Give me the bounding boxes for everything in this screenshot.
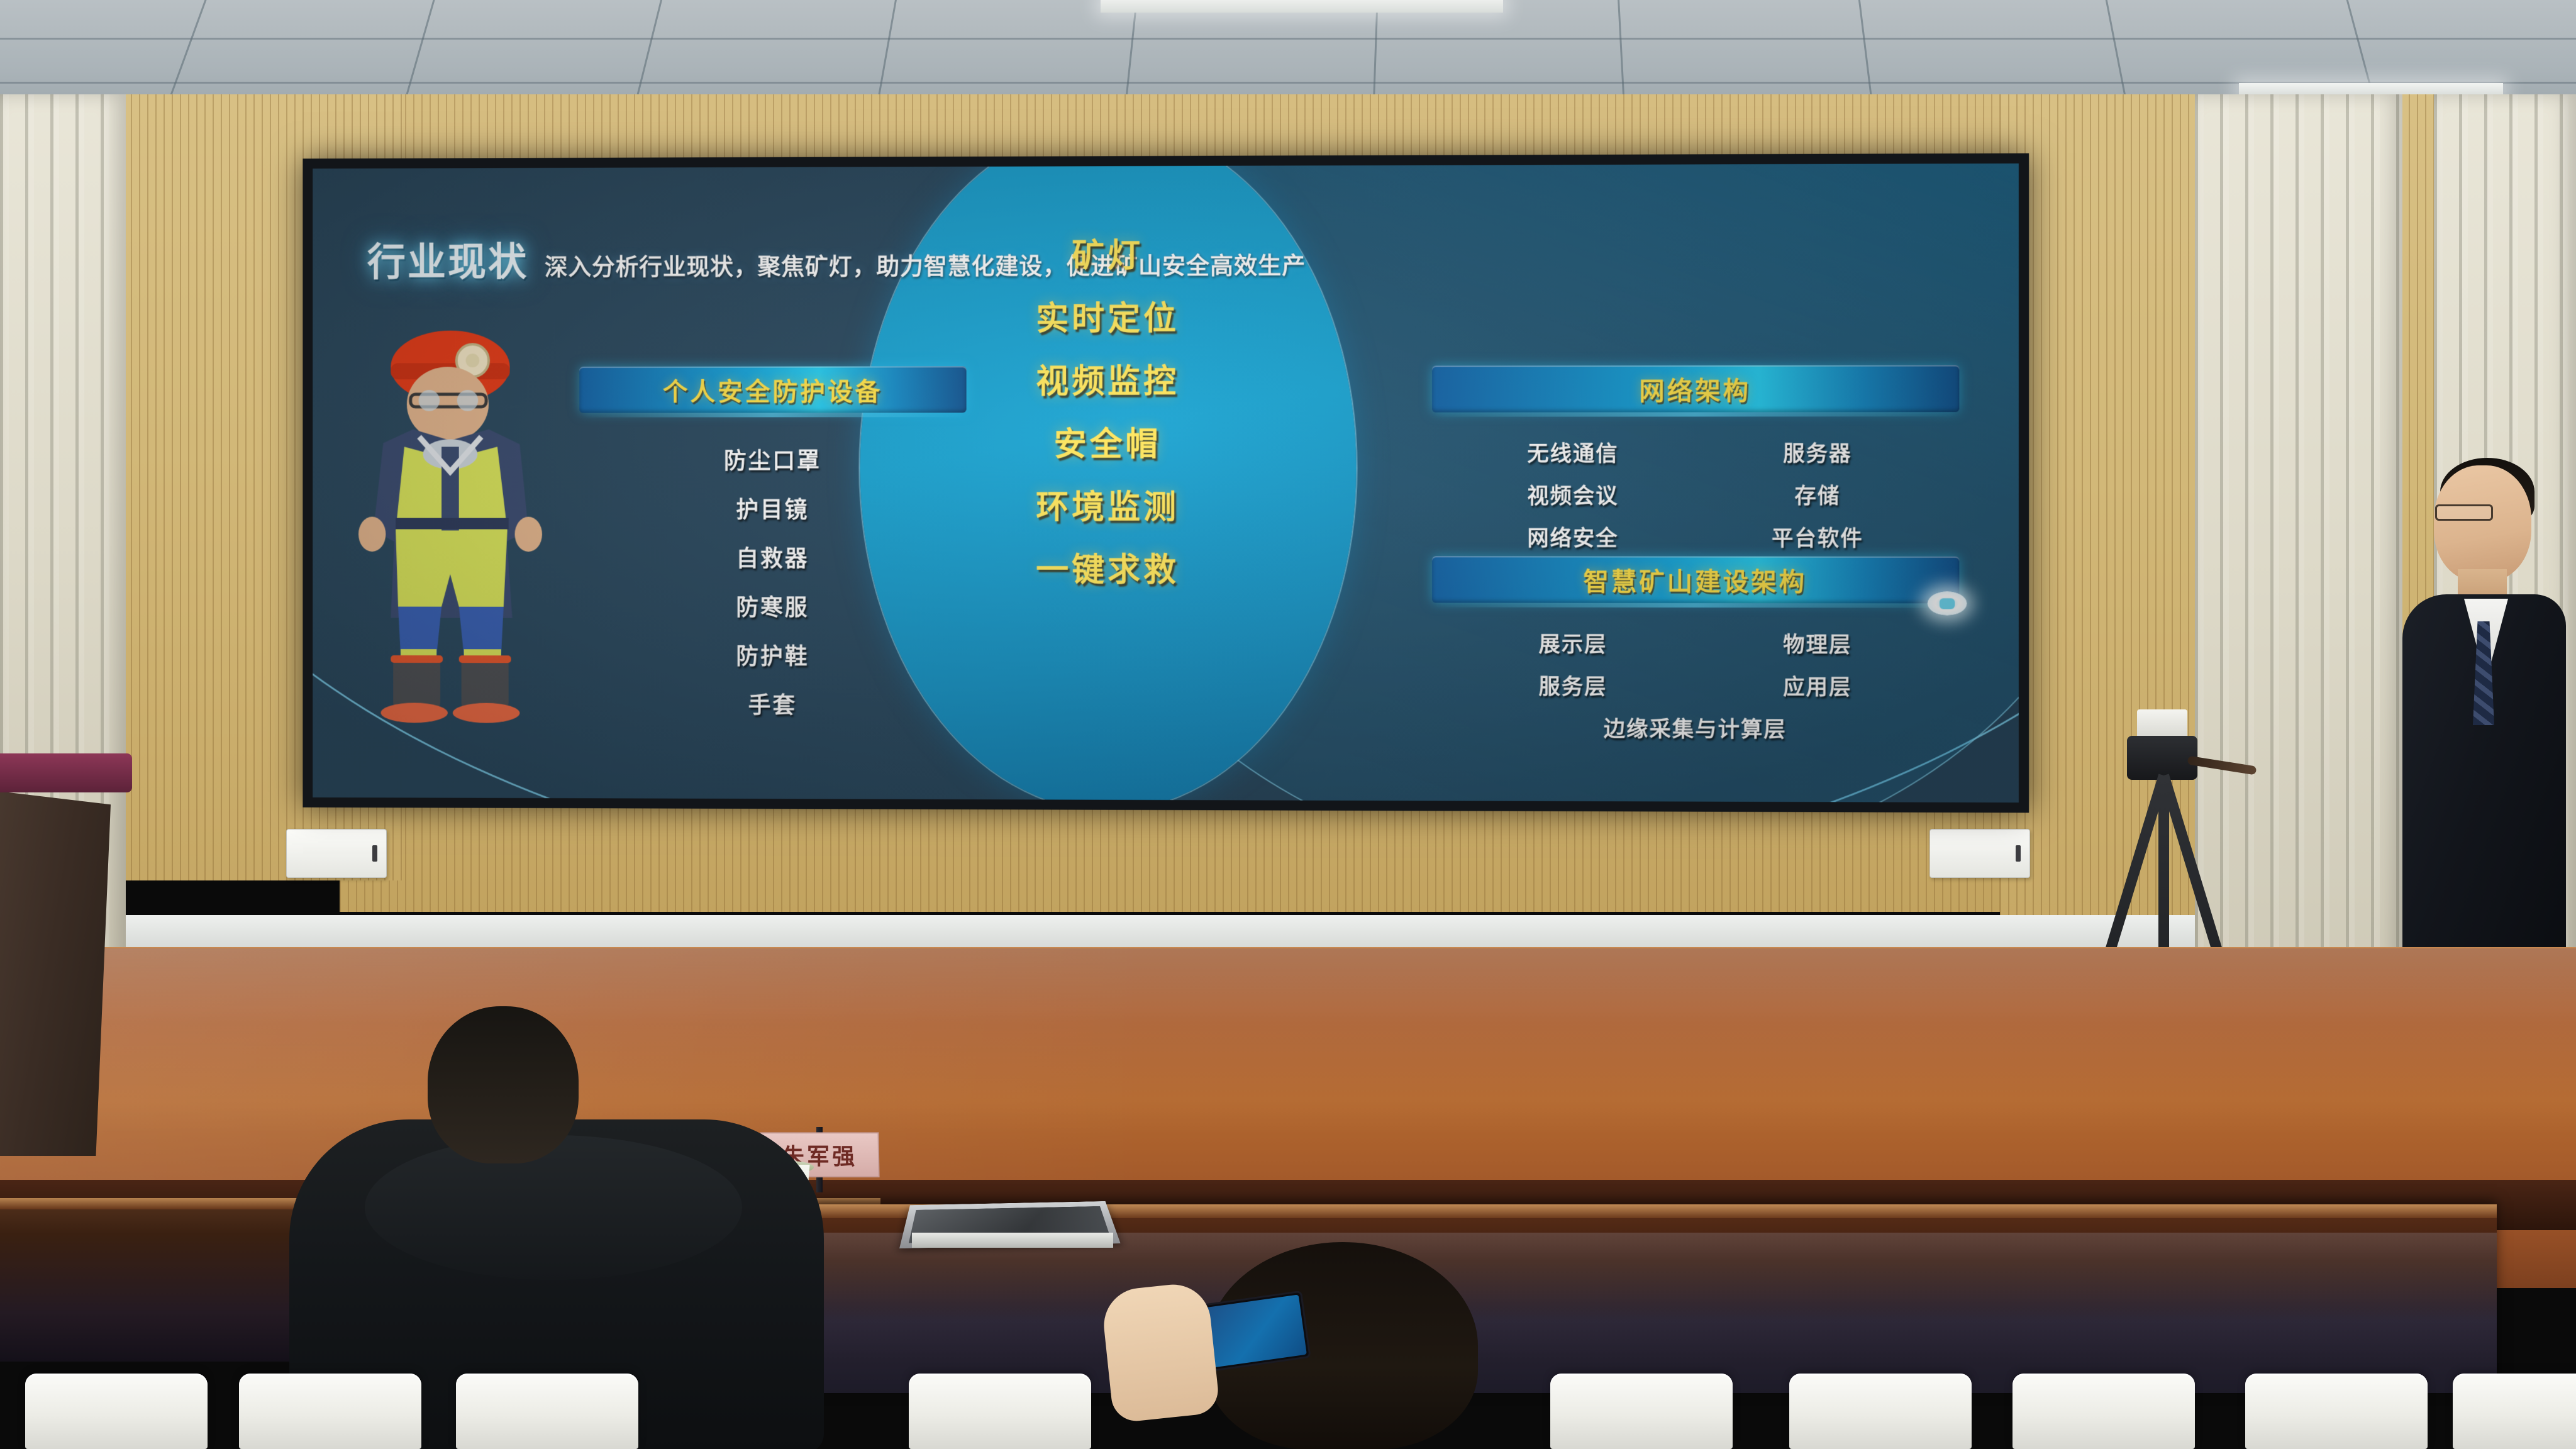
presentation-slide: 行业现状 深入分析行业现状，聚焦矿灯，助力智慧化建设，促进矿山安全高效生产 xyxy=(313,164,2019,802)
presenter-head xyxy=(2434,465,2531,582)
list-item: 防寒服 xyxy=(736,589,809,622)
panel-header-smart-mine-label: 智慧矿山建设架构 xyxy=(1584,562,1807,599)
table-reflection xyxy=(811,1233,2497,1358)
podium[interactable] xyxy=(0,753,132,1156)
glasses-icon xyxy=(2435,504,2493,521)
network-items: 无线通信 服务器 视频会议 存储 网络安全 平台软件 xyxy=(1432,436,1959,552)
tripod-head xyxy=(2127,736,2197,780)
list-item: 矿灯 xyxy=(1072,229,1143,276)
list-item: 环境监测 xyxy=(1036,480,1179,528)
podium-body xyxy=(0,790,111,1156)
list-item: 自救器 xyxy=(736,541,809,574)
ceiling-light xyxy=(1101,0,1503,13)
list-item: 无线通信 xyxy=(1527,436,1618,467)
list-item: 物理层 xyxy=(1783,627,1851,658)
smart-mine-items: 展示层 物理层 服务层 应用层 边缘采集与计算层 xyxy=(1432,627,1959,744)
list-item: 边缘采集与计算层 xyxy=(1604,712,1787,743)
panel-header-smart-mine: 智慧矿山建设架构 xyxy=(1432,556,1959,603)
chair[interactable] xyxy=(2453,1374,2576,1449)
chair[interactable] xyxy=(2245,1374,2428,1449)
list-item: 网络安全 xyxy=(1527,521,1618,552)
list-item: 护目镜 xyxy=(736,492,809,525)
hand xyxy=(1100,1281,1220,1424)
list-item: 平台软件 xyxy=(1772,521,1863,552)
panel-smart-mine-architecture: 智慧矿山建设架构 展示层 物理层 服务层 应用层 边缘采集与计算层 xyxy=(1432,556,1959,743)
panel-header-left-label: 个人安全防护设备 xyxy=(663,371,882,408)
camera-icon xyxy=(2137,709,2187,738)
list-item: 防尘口罩 xyxy=(724,443,821,475)
ceiling-light xyxy=(2239,83,2503,96)
tripod-pan-handle[interactable] xyxy=(2187,755,2257,775)
list-item: 手套 xyxy=(748,687,797,720)
jacket-hood xyxy=(365,1135,742,1280)
chair[interactable] xyxy=(456,1374,638,1449)
chair[interactable] xyxy=(2012,1374,2195,1449)
laser-pointer-dot-icon xyxy=(1928,591,1967,615)
center-panel-items: 矿灯 实时定位 视频监控 安全帽 环境监测 一键求救 xyxy=(875,228,1340,591)
list-item: 防护鞋 xyxy=(736,638,809,671)
list-item: 实时定位 xyxy=(1036,292,1179,339)
slide-title: 行业现状 xyxy=(367,230,528,287)
wall-speaker-right xyxy=(1929,829,2030,878)
smartphone-screen xyxy=(1200,1294,1307,1368)
conference-room-scene: 行业现状 深入分析行业现状，聚焦矿灯，助力智慧化建设，促进矿山安全高效生产 xyxy=(0,0,2576,1449)
podium-top xyxy=(0,753,132,792)
panel-network-architecture: 网络架构 无线通信 服务器 视频会议 存储 网络安全 平台软件 xyxy=(1432,365,1959,552)
list-item: 安全帽 xyxy=(1054,418,1162,465)
chair[interactable] xyxy=(1789,1374,1972,1449)
list-item: 应用层 xyxy=(1783,670,1851,701)
foreground-audience-member xyxy=(1094,1242,1585,1449)
chair[interactable] xyxy=(909,1374,1091,1449)
chair[interactable] xyxy=(25,1374,208,1449)
panel-header-network-label: 网络架构 xyxy=(1639,370,1751,407)
list-item: 视频会议 xyxy=(1527,479,1618,509)
panel-header-network: 网络架构 xyxy=(1432,365,1959,413)
list-item: 服务器 xyxy=(1783,436,1851,467)
list-item: 视频监控 xyxy=(1036,355,1179,402)
brochure-stack xyxy=(912,1233,1113,1248)
miner-illustration xyxy=(326,324,575,724)
chair[interactable] xyxy=(239,1374,421,1449)
list-item: 服务层 xyxy=(1539,669,1607,700)
projection-screen[interactable]: 行业现状 深入分析行业现状，聚焦矿灯，助力智慧化建设，促进矿山安全高效生产 xyxy=(303,153,2029,813)
chair[interactable] xyxy=(1550,1374,1733,1449)
list-item: 存储 xyxy=(1794,479,1840,509)
audience-head xyxy=(428,1006,579,1163)
wall-speaker-left xyxy=(286,829,387,878)
list-item: 一键求救 xyxy=(1036,543,1179,591)
list-item: 展示层 xyxy=(1539,627,1607,658)
